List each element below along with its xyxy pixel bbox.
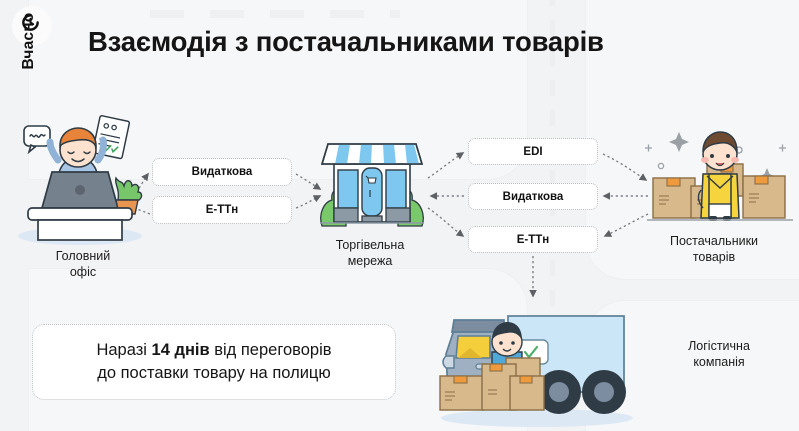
callout-text: від переговорів xyxy=(210,341,332,359)
arrow-ettn-to-shop xyxy=(296,196,320,208)
label-line: Головний xyxy=(8,248,158,264)
chip-label: EDI xyxy=(523,146,542,158)
label-suppliers: Постачальники товарів xyxy=(630,233,798,266)
chip-ettn-right[interactable]: Е-ТТн xyxy=(468,226,598,253)
label-line: офіс xyxy=(8,264,158,280)
label-retail-network: Торгівельна мережа xyxy=(300,237,440,270)
arrow-shop-to-ettn-right xyxy=(428,208,463,236)
chip-label: Е-ТТн xyxy=(206,204,239,216)
callout-line-2: до поставки товару на полицю xyxy=(97,362,331,385)
callout-line-1: Наразі 14 днів від переговорів xyxy=(96,339,331,362)
document-icon xyxy=(92,115,129,158)
label-line: компанія xyxy=(640,354,798,370)
chip-label: Е-ТТн xyxy=(517,234,550,246)
chip-vidatkova-right[interactable]: Видаткова xyxy=(468,183,598,210)
supplier-with-boxes-illustration xyxy=(645,120,795,236)
label-line: мережа xyxy=(300,253,440,269)
slide-canvas: Вчасно Взаємодія з постачальниками товар… xyxy=(0,0,799,431)
speech-bubble-icon xyxy=(24,126,50,152)
chip-label: Видаткова xyxy=(192,166,253,178)
label-logistics-company: Логістична компанія xyxy=(640,338,798,371)
arrow-vidatkova-to-shop xyxy=(296,174,320,189)
arrow-shop-to-edi xyxy=(428,153,463,178)
callout-text: Наразі xyxy=(96,341,151,359)
chip-vidatkova-left[interactable]: Видаткова xyxy=(152,158,292,186)
label-line: Торгівельна xyxy=(300,237,440,253)
delivery-truck-illustration xyxy=(432,302,642,430)
chip-edi[interactable]: EDI xyxy=(468,138,598,165)
callout-highlight: 14 днів xyxy=(152,341,210,359)
storefront-illustration xyxy=(318,134,426,236)
chip-ettn-left[interactable]: Е-ТТн xyxy=(152,196,292,224)
label-head-office: Головний офіс xyxy=(8,248,158,281)
chip-label: Видаткова xyxy=(503,191,564,203)
arrow-edi-to-suppliers xyxy=(603,154,646,180)
label-line: товарів xyxy=(630,249,798,265)
office-worker-laptop-illustration xyxy=(6,112,152,248)
label-line: Логістична xyxy=(640,338,798,354)
label-line: Постачальники xyxy=(630,233,798,249)
summary-callout: Наразі 14 днів від переговорів до постав… xyxy=(32,324,396,400)
